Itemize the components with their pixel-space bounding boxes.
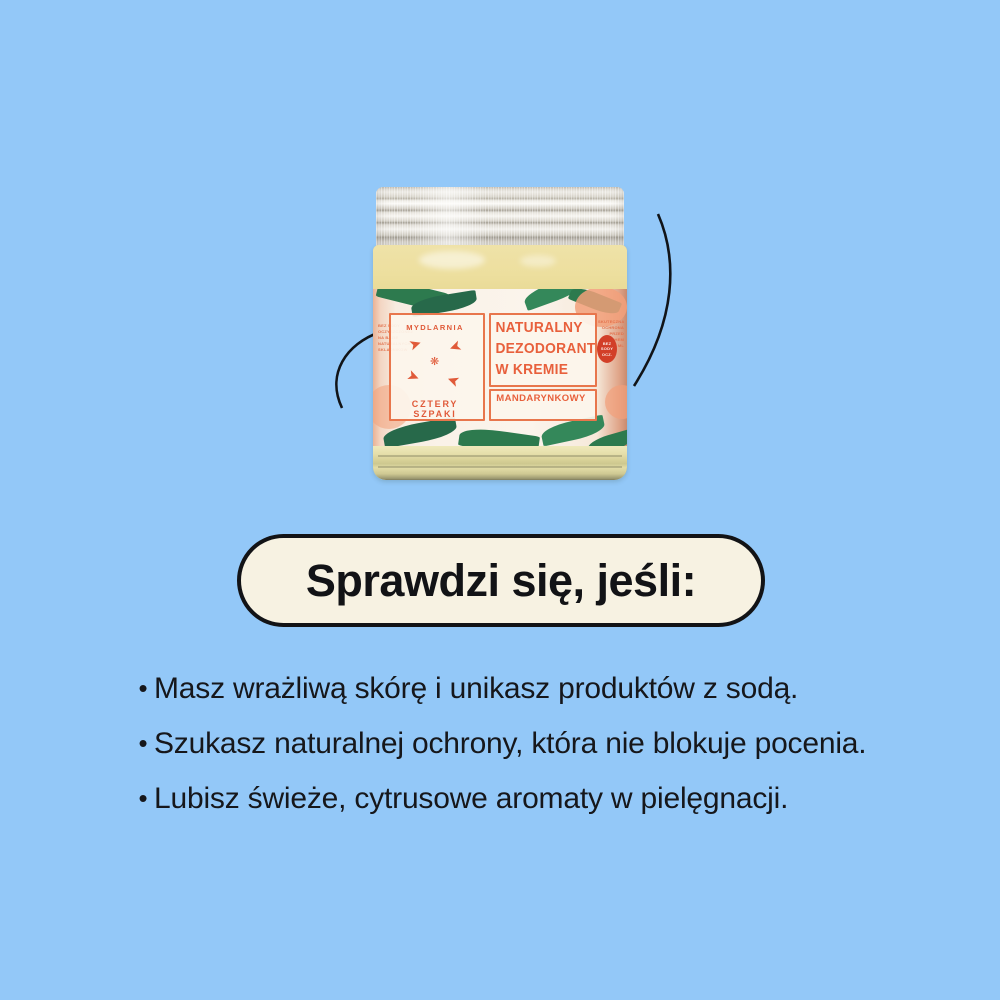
label-variant-text: MANDARYNKOWY <box>489 393 593 404</box>
jar-glass-body: BEZ SODY OCZYSZCZONEJ NA BAZIE NATURALNY… <box>373 245 627 480</box>
label-claim-badge-text: BEZ SODY OCZ. <box>601 341 613 358</box>
jar-base <box>373 446 627 480</box>
jar-base-line <box>378 466 622 468</box>
badge-line-3: OCZ. <box>602 352 612 357</box>
bullet-icon: • <box>132 662 154 715</box>
list-item: • Masz wrażliwą skórę i unikasz produktó… <box>132 662 892 715</box>
badge-line-2: SODY <box>601 346 613 351</box>
brand-arc-top: MYDLARNIA <box>389 323 481 332</box>
section-heading-badge: Sprawdzi się, jeśli: <box>237 534 765 627</box>
mandarin-decoration <box>605 385 627 419</box>
cream-highlight <box>419 251 485 269</box>
poster-canvas: BEZ SODY OCZYSZCZONEJ NA BAZIE NATURALNY… <box>0 0 1000 1000</box>
jar-base-line <box>378 455 622 457</box>
cream-highlight-secondary <box>520 255 556 267</box>
page-title: Sprawdzi się, jeśli: <box>306 555 696 607</box>
deodorant-jar: BEZ SODY OCZYSZCZONEJ NA BAZIE NATURALNY… <box>373 187 627 480</box>
lid-highlight <box>411 187 485 249</box>
list-item: • Szukasz naturalnej ochrony, która nie … <box>132 717 892 770</box>
label-title-line-1: NATURALNY <box>495 317 584 338</box>
product-label: BEZ SODY OCZYSZCZONEJ NA BAZIE NATURALNY… <box>373 289 627 453</box>
list-item: • Lubisz świeże, cytrusowe aromaty w pie… <box>132 772 892 825</box>
bullet-icon: • <box>132 717 154 770</box>
label-claim-badge: BEZ SODY OCZ. <box>597 335 617 363</box>
sprig-icon: ❋ <box>430 355 439 368</box>
badge-line-1: BEZ <box>603 341 612 346</box>
label-title-line-2: DEZODORANT <box>495 338 584 359</box>
list-item-label: Lubisz świeże, cytrusowe aromaty w pielę… <box>154 772 892 825</box>
bullet-icon: • <box>132 772 154 825</box>
brand-arc-bottom: CZTERY SZPAKI <box>389 399 481 419</box>
list-item-label: Szukasz naturalnej ochrony, która nie bl… <box>154 717 892 770</box>
benefits-list: • Masz wrażliwą skórę i unikasz produktó… <box>132 662 892 827</box>
label-title-text: NATURALNY DEZODORANT W KREMIE <box>489 317 585 380</box>
product-image: BEZ SODY OCZYSZCZONEJ NA BAZIE NATURALNY… <box>0 170 1000 490</box>
list-item-label: Masz wrażliwą skórę i unikasz produktów … <box>154 662 892 715</box>
jar-lid <box>376 187 624 249</box>
label-title-line-3: W KREMIE <box>495 359 584 380</box>
